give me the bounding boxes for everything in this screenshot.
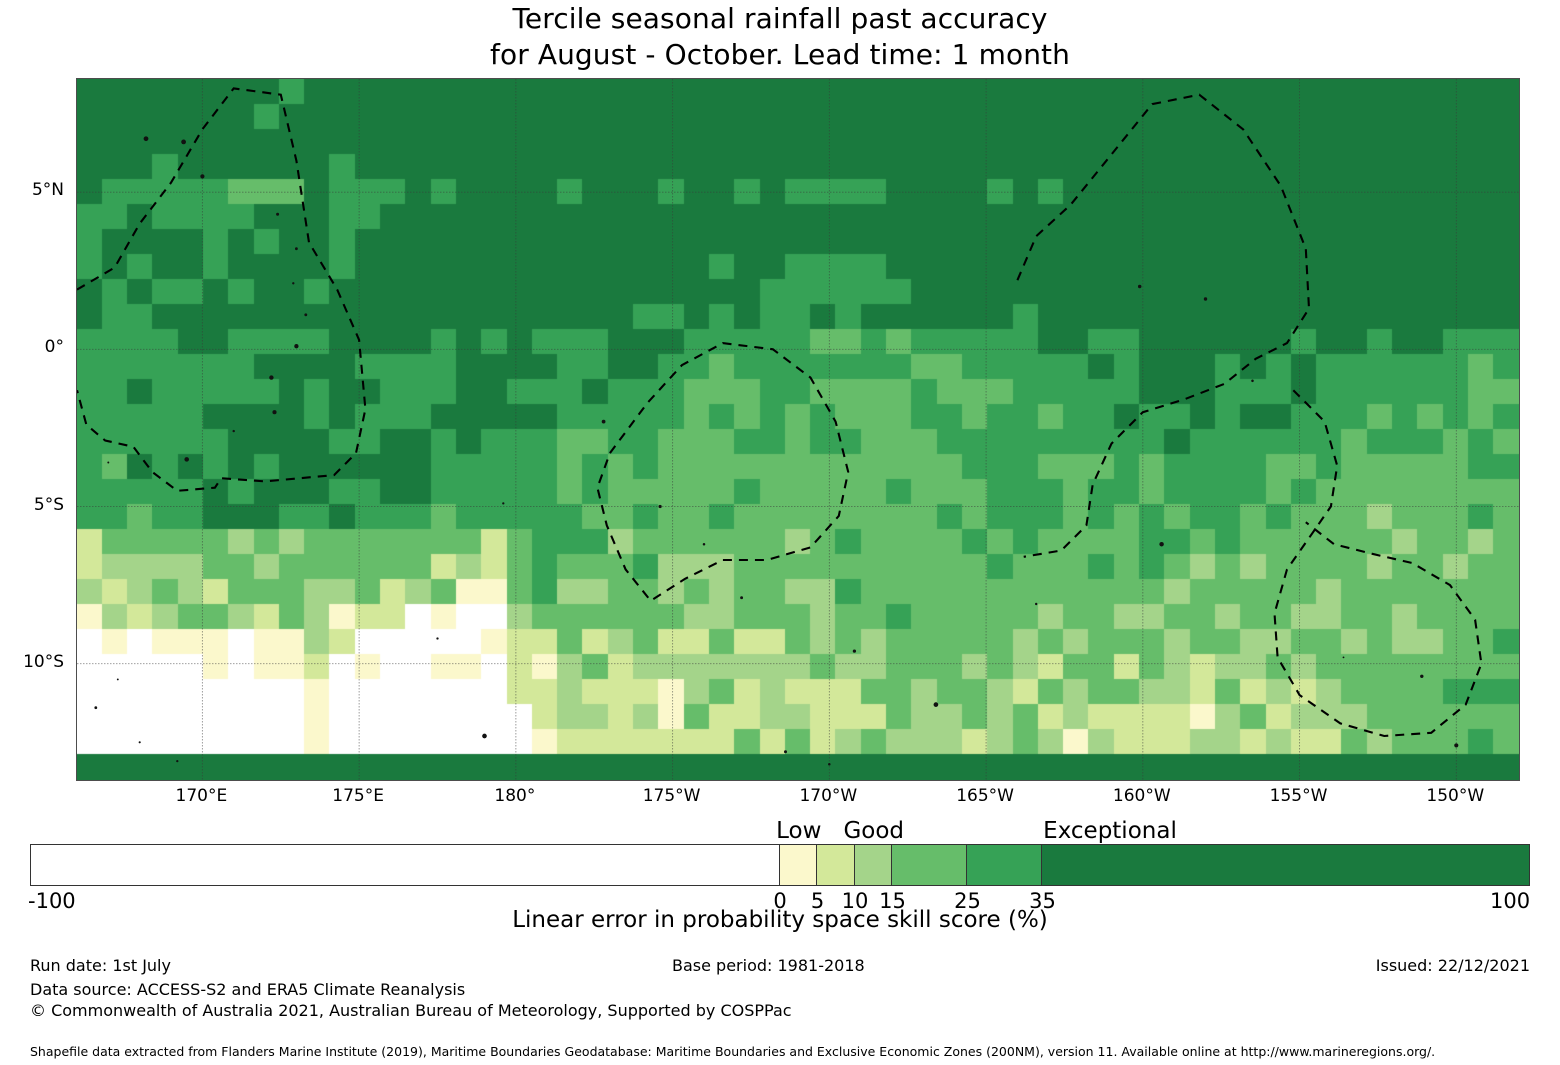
lon-tick-label: 160°W [1082,786,1202,806]
colorbar [30,844,1530,886]
colorbar-category-label: Low [776,818,821,844]
data-source: Data source: ACCESS-S2 and ERA5 Climate … [30,979,465,1000]
lat-tick-label: 5°N [0,182,64,199]
lon-tick-label: 170°E [141,786,261,806]
lat-tick-label: 10°S [0,654,64,671]
copyright: © Commonwealth of Australia 2021, Austra… [30,1000,792,1021]
lat-tick-label: 0° [0,339,64,356]
lon-tick-label: 180° [455,786,575,806]
base-period: Base period: 1981-2018 [672,955,865,976]
lon-tick-label: 155°W [1239,786,1359,806]
chart-title: Tercile seasonal rainfall past accuracy … [0,0,1560,76]
lon-tick-label: 175°W [612,786,732,806]
colorbar-category-label: Exceptional [1043,818,1177,844]
skill-score-heatmap [77,79,1519,780]
colorbar-segment [1042,845,1529,885]
lat-tick-label: 5°S [0,497,64,514]
lon-tick-label: 170°W [768,786,888,806]
colorbar-segment [892,845,967,885]
map-plot-area [76,78,1520,781]
colorbar-segment [967,845,1042,885]
colorbar-category-label: Good [843,818,904,844]
title-line-2: for August - October. Lead time: 1 month [490,37,1070,73]
colorbar-segment [855,845,892,885]
run-date: Run date: 1st July [30,955,171,976]
lon-tick-label: 165°W [925,786,1045,806]
colorbar-axis-label: Linear error in probability space skill … [0,906,1560,934]
lon-tick-label: 175°E [298,786,418,806]
title-line-1: Tercile seasonal rainfall past accuracy [512,1,1047,37]
colorbar-gradient [30,844,1530,886]
colorbar-segment [817,845,854,885]
colorbar-segment [31,845,780,885]
colorbar-segment [780,845,817,885]
shapefile-note: Shapefile data extracted from Flanders M… [30,1043,1435,1060]
issued-date: Issued: 22/12/2021 [1376,955,1530,976]
footer: Run date: 1st July Base period: 1981-201… [0,955,1560,1065]
lon-tick-label: 150°W [1395,786,1515,806]
